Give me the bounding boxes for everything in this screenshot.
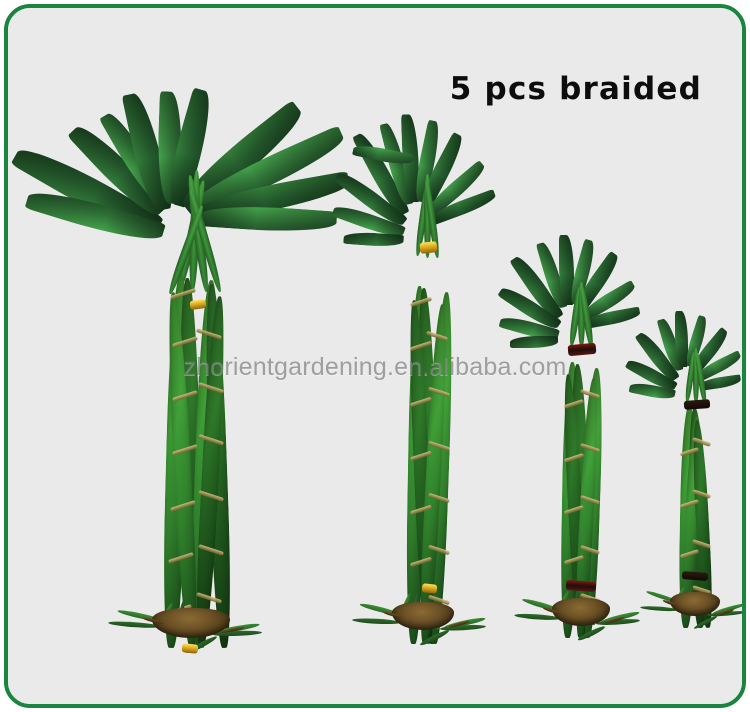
tie-band-dark: [682, 571, 708, 581]
bamboo-plant-second: [326, 116, 496, 644]
image-border-frame: 5 pcs braided zhorientgardening.en.aliba…: [4, 4, 746, 708]
leaf-crown: [622, 308, 746, 408]
image-canvas: 5 pcs braided zhorientgardening.en.aliba…: [8, 8, 742, 704]
leaf: [510, 336, 558, 348]
tie-band-gold: [182, 643, 199, 654]
tie-band-gold: [419, 241, 437, 254]
root-grass: [419, 629, 450, 648]
root-grass: [577, 625, 606, 643]
tie-band-red: [568, 343, 597, 356]
tie-band-dark: [684, 399, 711, 410]
root-ball-group: [326, 588, 496, 650]
tie-band-gold: [422, 583, 438, 594]
tie-band-red: [566, 580, 597, 592]
bamboo-plant-shortest: [622, 308, 746, 628]
leaf: [343, 231, 404, 248]
leaf-crown: [326, 116, 496, 272]
root-ball-group: [622, 582, 746, 632]
product-image: 5 pcs braided zhorientgardening.en.aliba…: [0, 0, 750, 712]
bamboo-plant-tallest: [16, 70, 368, 648]
caption-label: 5 pcs braided: [450, 71, 702, 107]
root-grass: [693, 614, 718, 630]
